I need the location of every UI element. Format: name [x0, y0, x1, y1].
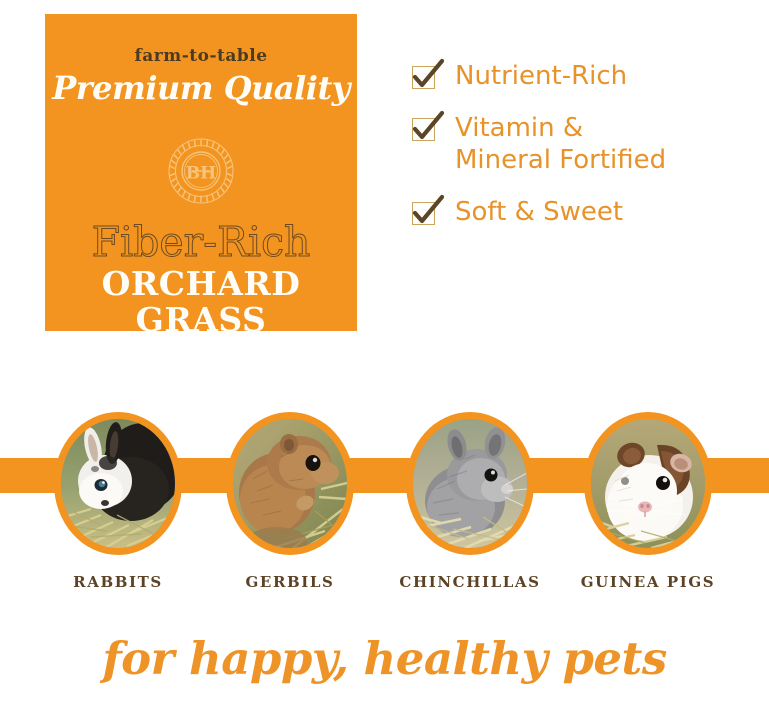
benefit-label: Soft & Sweet — [455, 196, 623, 228]
benefit-label-line2: Mineral Fortified — [455, 144, 666, 176]
benefit-label-multiline: Vitamin & Mineral Fortified — [455, 112, 666, 176]
animal-circle-guinea-pigs — [584, 412, 712, 555]
chinchilla-photo — [413, 419, 527, 548]
benefit-label-line1: Vitamin & — [455, 112, 666, 144]
animal-label-chinchillas: CHINCHILLAS — [395, 573, 545, 591]
checkmark-icon — [412, 118, 437, 143]
brand-medallion-icon: BH — [167, 137, 235, 205]
benefits-checklist: Nutrient-Rich Vitamin & Mineral Fortifie… — [412, 60, 742, 248]
animal-circle-rabbits — [54, 412, 182, 555]
hero-title-line2: ORCHARD GRASS — [45, 266, 357, 338]
animal-circle-gerbils — [226, 412, 354, 555]
hero-panel: farm-to-table Premium Quality — [45, 14, 357, 331]
hero-script-text: Premium Quality — [45, 69, 357, 107]
animal-cell-gerbils: GERBILS — [215, 400, 365, 591]
animal-cell-rabbits: RABBITS — [43, 400, 193, 591]
animal-cell-guinea-pigs: GUINEA PIGS — [573, 400, 723, 591]
hero-eyebrow-text: farm-to-table — [45, 46, 357, 66]
footer-tagline: for happy, healthy pets — [0, 632, 769, 685]
rabbit-photo — [61, 419, 175, 548]
hero-title-line1: Fiber-Rich — [45, 220, 357, 264]
animal-circle-chinchillas — [406, 412, 534, 555]
benefit-item-soft-and-sweet: Soft & Sweet — [412, 196, 742, 228]
animal-label-gerbils: GERBILS — [215, 573, 365, 591]
svg-text:BH: BH — [186, 164, 216, 184]
animal-cell-chinchillas: CHINCHILLAS — [395, 400, 545, 591]
benefit-item-vitamin-mineral-fortified: Vitamin & Mineral Fortified — [412, 112, 742, 176]
gerbil-photo — [233, 419, 347, 548]
animal-label-rabbits: RABBITS — [43, 573, 193, 591]
animal-label-guinea-pigs: GUINEA PIGS — [573, 573, 723, 591]
checkmark-icon — [412, 202, 437, 227]
animal-circle-row: RABBITS — [0, 400, 769, 600]
checkmark-icon — [412, 66, 437, 91]
guinea-pig-photo — [591, 419, 705, 548]
product-feature-graphic: farm-to-table Premium Quality — [0, 0, 769, 705]
benefit-item-nutrient-rich: Nutrient-Rich — [412, 60, 742, 92]
benefit-label: Nutrient-Rich — [455, 60, 627, 92]
